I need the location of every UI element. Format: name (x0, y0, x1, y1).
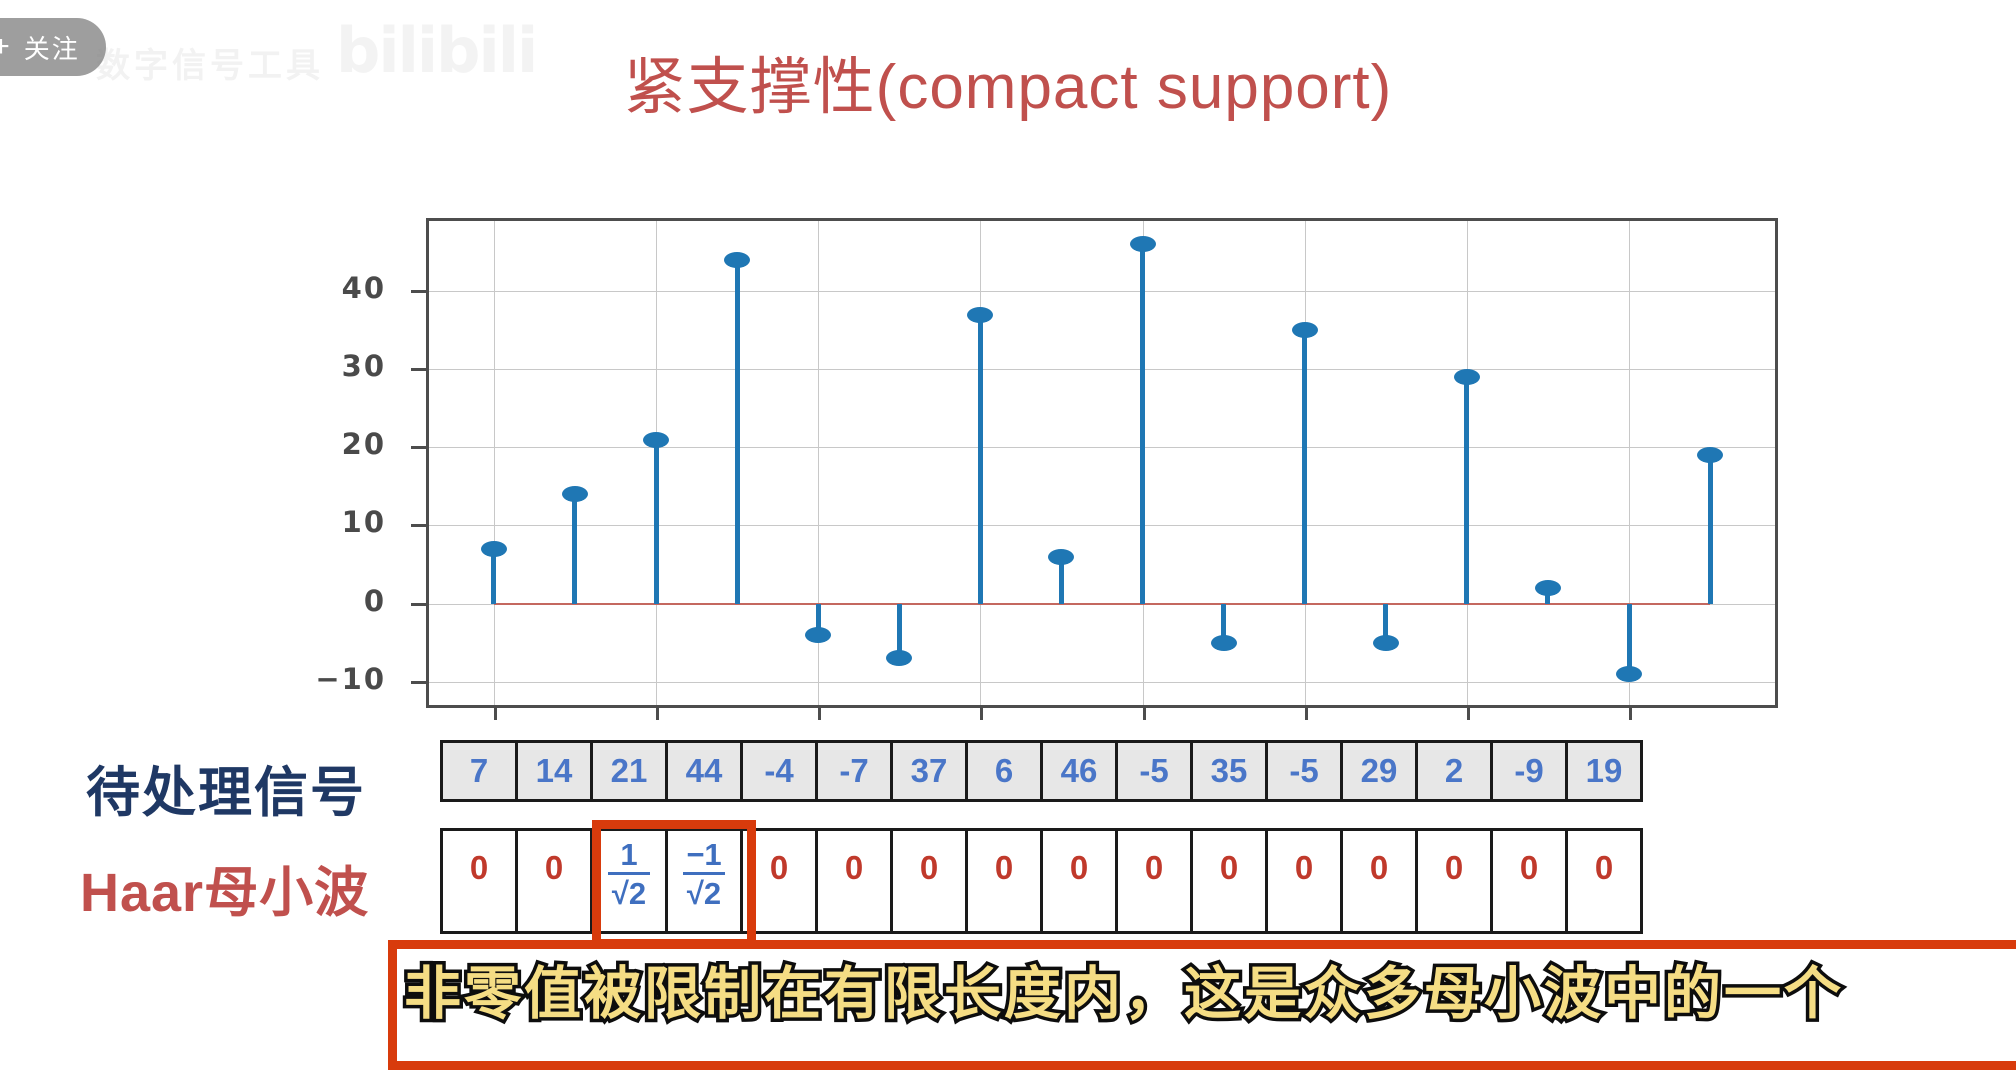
data-point-marker (1130, 236, 1156, 252)
haar-zero-cell: 0 (815, 828, 893, 934)
haar-zero-cell: 0 (440, 828, 518, 934)
signal-cell: -5 (1115, 740, 1193, 802)
stem-line (1708, 455, 1713, 603)
stem-line (491, 549, 496, 604)
y-tick-mark (411, 446, 426, 449)
data-point-marker (562, 486, 588, 502)
x-tick-mark (1629, 705, 1632, 720)
fraction-denominator: √2 (612, 875, 646, 909)
data-point-marker (1211, 635, 1237, 651)
signal-row-label: 待处理信号 (86, 748, 366, 827)
haar-zero-cell: 0 (740, 828, 818, 934)
data-point-marker (1373, 635, 1399, 651)
stem-line (1464, 377, 1469, 603)
x-tick-mark (1467, 705, 1470, 720)
signal-cell: -9 (1490, 740, 1568, 802)
signal-cell: 44 (665, 740, 743, 802)
x-tick-mark (818, 705, 821, 720)
haar-row-label: Haar母小波 (80, 848, 369, 927)
data-point-marker (1697, 447, 1723, 463)
fraction-denominator: √2 (687, 875, 721, 909)
signal-cell: -7 (815, 740, 893, 802)
x-tick-mark (494, 705, 497, 720)
data-point-marker (805, 627, 831, 643)
haar-fraction-cell: 1√2 (590, 828, 668, 934)
y-axis-tick-label: −10 (276, 662, 386, 696)
y-tick-mark (411, 681, 426, 684)
signal-cell: 14 (515, 740, 593, 802)
signal-cell: 21 (590, 740, 668, 802)
stem-line (735, 260, 740, 603)
stem-line (1140, 244, 1145, 603)
haar-zero-cell: 0 (1190, 828, 1268, 934)
x-tick-mark (1305, 705, 1308, 720)
y-axis-tick-label: 0 (276, 584, 386, 618)
signal-cell: 6 (965, 740, 1043, 802)
stem-line (1302, 330, 1307, 603)
signal-value-table: 7142144-4-737646-535-5292-919 (440, 740, 1640, 802)
signal-cell: 19 (1565, 740, 1643, 802)
haar-zero-cell: 0 (1415, 828, 1493, 934)
signal-cell: 7 (440, 740, 518, 802)
y-tick-mark (411, 368, 426, 371)
stem-line (654, 440, 659, 604)
x-tick-mark (980, 705, 983, 720)
y-tick-mark (411, 603, 426, 606)
y-tick-mark (411, 524, 426, 527)
haar-zero-cell: 0 (1340, 828, 1418, 934)
data-point-marker (967, 307, 993, 323)
data-point-marker (643, 432, 669, 448)
haar-zero-cell: 0 (515, 828, 593, 934)
fraction-numerator: −1 (686, 839, 721, 872)
fraction-numerator: 1 (620, 839, 637, 872)
gridline-horizontal (429, 447, 1775, 448)
slide-canvas: 数字信号工具 bilibili + 关注 紧支撑性(compact suppor… (0, 0, 2016, 1092)
page-title: 紧支撑性(compact support) (0, 36, 2016, 126)
data-point-marker (1048, 549, 1074, 565)
data-point-marker (1454, 369, 1480, 385)
stem-line (978, 315, 983, 604)
data-point-marker (886, 650, 912, 666)
zero-baseline (494, 603, 1710, 605)
gridline-horizontal (429, 525, 1775, 526)
signal-cell: -5 (1265, 740, 1343, 802)
signal-cell: 2 (1415, 740, 1493, 802)
gridline-horizontal (429, 291, 1775, 292)
y-axis-tick-label: 30 (276, 349, 386, 383)
data-point-marker (1535, 580, 1561, 596)
y-tick-mark (411, 290, 426, 293)
x-tick-mark (1143, 705, 1146, 720)
haar-zero-cell: 0 (890, 828, 968, 934)
haar-zero-cell: 0 (1040, 828, 1118, 934)
caption-text: 非零值被限制在有限长度内，这是众多母小波中的一个 (404, 948, 2016, 1030)
gridline-vertical (494, 221, 495, 705)
stem-line (1627, 604, 1632, 674)
y-axis-tick-label: 10 (276, 505, 386, 539)
y-axis-tick-label: 40 (276, 271, 386, 305)
signal-cell: 35 (1190, 740, 1268, 802)
y-axis-tick-label: 20 (276, 427, 386, 461)
signal-cell: 29 (1340, 740, 1418, 802)
data-point-marker (1616, 666, 1642, 682)
data-point-marker (1292, 322, 1318, 338)
haar-zero-cell: 0 (965, 828, 1043, 934)
x-tick-mark (656, 705, 659, 720)
signal-cell: 46 (1040, 740, 1118, 802)
haar-zero-cell: 0 (1265, 828, 1343, 934)
haar-zero-cell: 0 (1565, 828, 1643, 934)
signal-cell: 37 (890, 740, 968, 802)
gridline-horizontal (429, 682, 1775, 683)
haar-fraction-cell: −1√2 (665, 828, 743, 934)
stem-plot (426, 218, 1778, 708)
haar-wavelet-table: 001√2−1√2000000000000 (440, 828, 1640, 934)
haar-zero-cell: 0 (1115, 828, 1193, 934)
stem-line (572, 494, 577, 603)
gridline-horizontal (429, 369, 1775, 370)
data-point-marker (481, 541, 507, 557)
haar-zero-cell: 0 (1490, 828, 1568, 934)
signal-cell: -4 (740, 740, 818, 802)
data-point-marker (724, 252, 750, 268)
